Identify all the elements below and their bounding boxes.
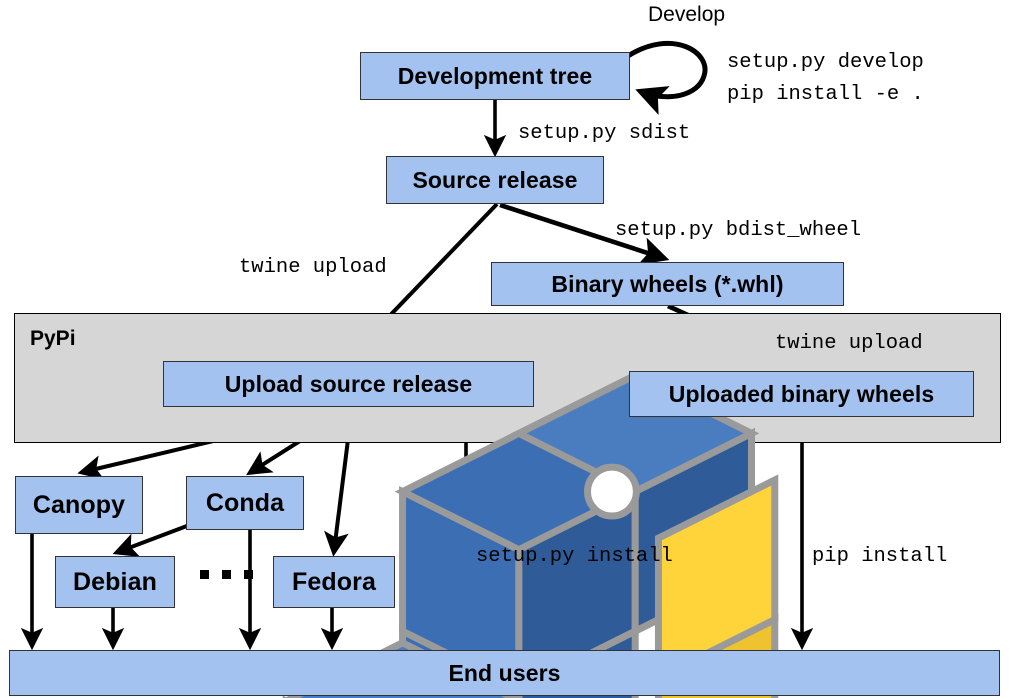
edge-label-setup-py-install: setup.py install (476, 545, 673, 568)
edge-label-pip-install: pip install (812, 545, 947, 568)
packaging-flow-diagram: PyPi (0, 0, 1009, 698)
node-fedora[interactable]: Fedora (273, 556, 395, 608)
pypi-panel-label: PyPi (30, 327, 76, 351)
node-source-release[interactable]: Source release (386, 156, 604, 204)
edge-label-twine-upload-source: twine upload (239, 256, 387, 279)
node-canopy[interactable]: Canopy (15, 476, 143, 534)
node-binary-wheels[interactable]: Binary wheels (*.whl) (491, 262, 844, 306)
more-distros-ellipsis (200, 570, 253, 579)
edge-label-setup-py-develop: setup.py develop (727, 51, 924, 74)
node-uploaded-binary-wheels[interactable]: Uploaded binary wheels (629, 371, 974, 417)
ellipsis-dot (244, 570, 253, 579)
edge-label-pip-install-editable: pip install -e . (727, 83, 924, 106)
python-3d-cubes-logo (26, 352, 92, 412)
ellipsis-dot (200, 570, 209, 579)
node-development-tree[interactable]: Development tree (360, 52, 630, 100)
node-upload-source-release[interactable]: Upload source release (163, 361, 534, 407)
node-end-users[interactable]: End users (9, 650, 1000, 696)
edge-label-setup-py-sdist: setup.py sdist (518, 122, 690, 145)
node-debian[interactable]: Debian (55, 556, 175, 608)
ellipsis-dot (222, 570, 231, 579)
edge-label-twine-upload-wheels: twine upload (775, 332, 923, 355)
edge-label-develop: Develop (648, 3, 725, 27)
node-conda[interactable]: Conda (186, 476, 304, 530)
edge-label-setup-py-bdist-wheel: setup.py bdist_wheel (615, 219, 861, 242)
